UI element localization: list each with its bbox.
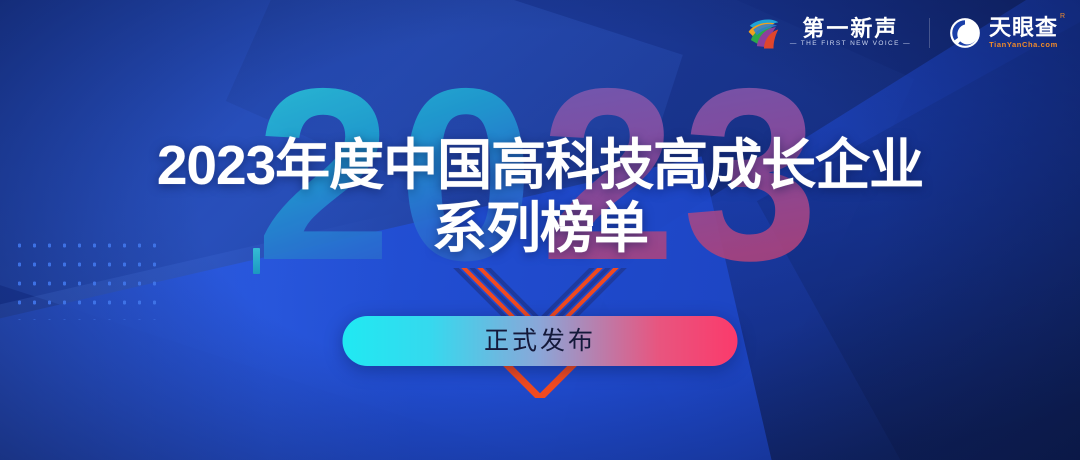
first-new-voice-tagline: — THE FIRST NEW VOICE — — [790, 41, 911, 48]
first-new-voice-logo-mark — [745, 14, 783, 52]
title-line-2: 系列榜单 — [0, 199, 1080, 258]
tianyancha-logo-text: 天眼查 TianYanCha.com R — [989, 17, 1058, 49]
registered-trademark-icon: R — [1060, 13, 1065, 20]
release-status-label: 正式发布 — [484, 329, 596, 354]
logo-divider — [929, 18, 930, 48]
tianyancha-logo[interactable]: 天眼查 TianYanCha.com R — [948, 16, 1058, 50]
title-line-1: 2023年度中国高科技高成长企业 — [0, 136, 1080, 195]
first-new-voice-name-cn: 第一新声 — [802, 18, 898, 40]
page-title: 2023年度中国高科技高成长企业 系列榜单 — [0, 136, 1080, 258]
tianyancha-logo-mark — [948, 16, 982, 50]
first-new-voice-logo-text: 第一新声 — THE FIRST NEW VOICE — — [790, 18, 911, 48]
first-new-voice-logo[interactable]: 第一新声 — THE FIRST NEW VOICE — — [745, 14, 911, 52]
release-status-pill[interactable]: 正式发布 — [343, 316, 738, 366]
logo-bar: 第一新声 — THE FIRST NEW VOICE — 天眼查 TianYan… — [745, 14, 1058, 52]
award-banner: 2023 第一新声 — THE FIRST NEW VOICE — — [0, 0, 1080, 460]
tianyancha-name-cn: 天眼查 — [989, 17, 1058, 39]
tianyancha-domain: TianYanCha.com — [989, 41, 1058, 49]
